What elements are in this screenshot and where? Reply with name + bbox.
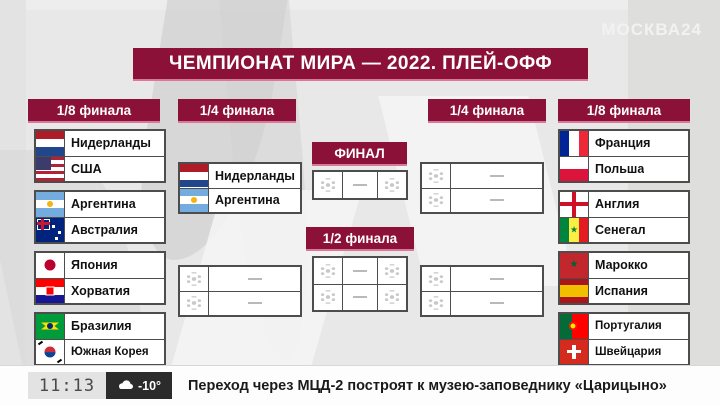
weather-badge: -10° <box>106 372 172 399</box>
empty-slot-placeholder <box>343 296 377 298</box>
team-name: Марокко <box>589 258 648 272</box>
cloud-icon <box>117 378 134 393</box>
table-row[interactable]: Англия <box>560 192 688 217</box>
match-box[interactable]: Португалия Швейцария <box>558 312 690 366</box>
team-name: Англия <box>589 197 639 211</box>
match-box[interactable]: Франция Польша <box>558 129 690 183</box>
flag-icon <box>560 314 589 339</box>
table-row[interactable]: Австралия <box>36 217 164 243</box>
flag-icon <box>36 253 65 278</box>
table-row[interactable]: Франция <box>560 131 688 156</box>
flag-icon <box>560 279 589 304</box>
flag-icon: ★ <box>560 218 589 243</box>
match-box[interactable] <box>420 162 544 214</box>
table-row[interactable] <box>314 258 406 284</box>
soccer-ball-icon <box>314 172 343 198</box>
flag-icon <box>560 157 589 182</box>
round-label-right-qf: 1/4 финала <box>428 99 546 123</box>
empty-slot-placeholder <box>451 278 542 280</box>
team-name: Бразилия <box>65 319 132 333</box>
team-name: Южная Корея <box>65 346 149 358</box>
table-row[interactable] <box>422 291 542 316</box>
table-row[interactable] <box>422 164 542 188</box>
table-row[interactable]: Нидерланды <box>36 131 164 156</box>
team-name: Австралия <box>65 223 138 237</box>
soccer-ball-icon <box>180 267 209 291</box>
match-box[interactable]: Аргентина Австралия <box>34 190 166 244</box>
flag-icon <box>180 164 209 188</box>
news-ticker-bar: 11:13 -10° Переход через МЦД-2 построят … <box>0 365 720 405</box>
round-label-left-qf: 1/4 финала <box>178 99 296 123</box>
table-row[interactable]: Швейцария <box>560 339 688 365</box>
match-box[interactable]: Англия ★ Сенегал <box>558 190 690 244</box>
team-name: Аргентина <box>65 197 136 211</box>
clock: 11:13 <box>28 372 106 399</box>
table-row[interactable]: Япония <box>36 253 164 278</box>
flag-icon <box>560 340 589 365</box>
flag-icon <box>560 192 589 217</box>
table-row[interactable] <box>314 284 406 311</box>
soccer-ball-icon <box>377 258 406 284</box>
flag-icon <box>36 157 65 182</box>
team-name: Испания <box>589 284 648 298</box>
final-match-box[interactable] <box>312 170 408 200</box>
semifinal-match-box[interactable] <box>312 256 408 312</box>
team-name: Япония <box>65 258 118 272</box>
team-name: Швейцария <box>589 346 661 358</box>
team-name: Аргентина <box>209 193 280 207</box>
round-label-semi: 1/2 финала <box>306 227 414 251</box>
table-row[interactable]: США <box>36 156 164 182</box>
soccer-ball-icon <box>422 267 451 291</box>
table-row[interactable]: Хорватия <box>36 278 164 304</box>
match-box[interactable]: ★ Марокко Испания <box>558 251 690 305</box>
soccer-ball-icon <box>377 285 406 311</box>
flag-icon <box>36 314 65 339</box>
round-label-right-r16: 1/8 финала <box>558 99 690 123</box>
table-row[interactable]: Бразилия <box>36 314 164 339</box>
soccer-ball-icon <box>314 285 343 311</box>
table-row[interactable]: ★ Сенегал <box>560 217 688 243</box>
flag-icon: ★ <box>560 253 589 278</box>
flag-icon <box>36 279 65 304</box>
round-label-left-r16: 1/8 финала <box>28 99 160 123</box>
team-name: США <box>65 162 102 176</box>
news-headline: Переход через МЦД-2 построят к музею-зап… <box>188 378 667 394</box>
temperature-value: -10° <box>138 379 161 393</box>
channel-watermark: МОСКВА24 <box>601 20 702 40</box>
flag-icon <box>36 218 65 243</box>
table-row[interactable] <box>422 267 542 291</box>
soccer-ball-icon <box>314 258 343 284</box>
table-row[interactable] <box>180 267 300 291</box>
empty-slot-placeholder <box>343 184 377 186</box>
table-row[interactable] <box>314 172 406 198</box>
match-box[interactable]: Бразилия Южная Корея <box>34 312 166 366</box>
match-box[interactable] <box>420 265 544 317</box>
table-row[interactable] <box>180 291 300 316</box>
empty-slot-placeholder <box>209 278 300 280</box>
team-name: Нидерланды <box>65 136 151 150</box>
table-row[interactable]: ★ Марокко <box>560 253 688 278</box>
page-title: ЧЕМПИОНАТ МИРА — 2022. ПЛЕЙ-ОФФ <box>133 48 588 81</box>
flag-icon <box>36 131 65 156</box>
soccer-ball-icon <box>180 292 209 316</box>
team-name: Португалия <box>589 320 662 332</box>
table-row[interactable]: Португалия <box>560 314 688 339</box>
match-box[interactable]: Нидерланды США <box>34 129 166 183</box>
soccer-ball-icon <box>377 172 406 198</box>
empty-slot-placeholder <box>209 302 300 304</box>
team-name: Польша <box>589 162 644 176</box>
team-name: Нидерланды <box>209 169 295 183</box>
table-row[interactable]: Аргентина <box>36 192 164 217</box>
team-name: Франция <box>589 136 650 150</box>
match-box[interactable]: Япония Хорватия <box>34 251 166 305</box>
soccer-ball-icon <box>422 164 451 188</box>
table-row[interactable]: Нидерланды <box>180 164 300 188</box>
flag-icon <box>180 189 209 213</box>
flag-icon <box>560 131 589 156</box>
empty-slot-placeholder <box>451 199 542 201</box>
team-name: Хорватия <box>65 284 130 298</box>
table-row[interactable]: Аргентина <box>180 188 300 213</box>
table-row[interactable]: Южная Корея <box>36 339 164 365</box>
empty-slot-placeholder <box>343 270 377 272</box>
table-row[interactable]: Польша <box>560 156 688 182</box>
table-row[interactable]: Испания <box>560 278 688 304</box>
round-label-final: ФИНАЛ <box>312 142 407 166</box>
table-row[interactable] <box>422 188 542 213</box>
flag-icon <box>36 340 65 365</box>
broadcast-graphic: МОСКВА24 ЧЕМПИОНАТ МИРА — 2022. ПЛЕЙ-ОФФ… <box>0 0 720 405</box>
flag-icon <box>36 192 65 217</box>
team-name: Сенегал <box>589 223 646 237</box>
soccer-ball-icon <box>422 189 451 213</box>
empty-slot-placeholder <box>451 175 542 177</box>
empty-slot-placeholder <box>451 302 542 304</box>
soccer-ball-icon <box>422 292 451 316</box>
match-box[interactable] <box>178 265 302 317</box>
match-box[interactable]: Нидерланды Аргентина <box>178 162 302 214</box>
